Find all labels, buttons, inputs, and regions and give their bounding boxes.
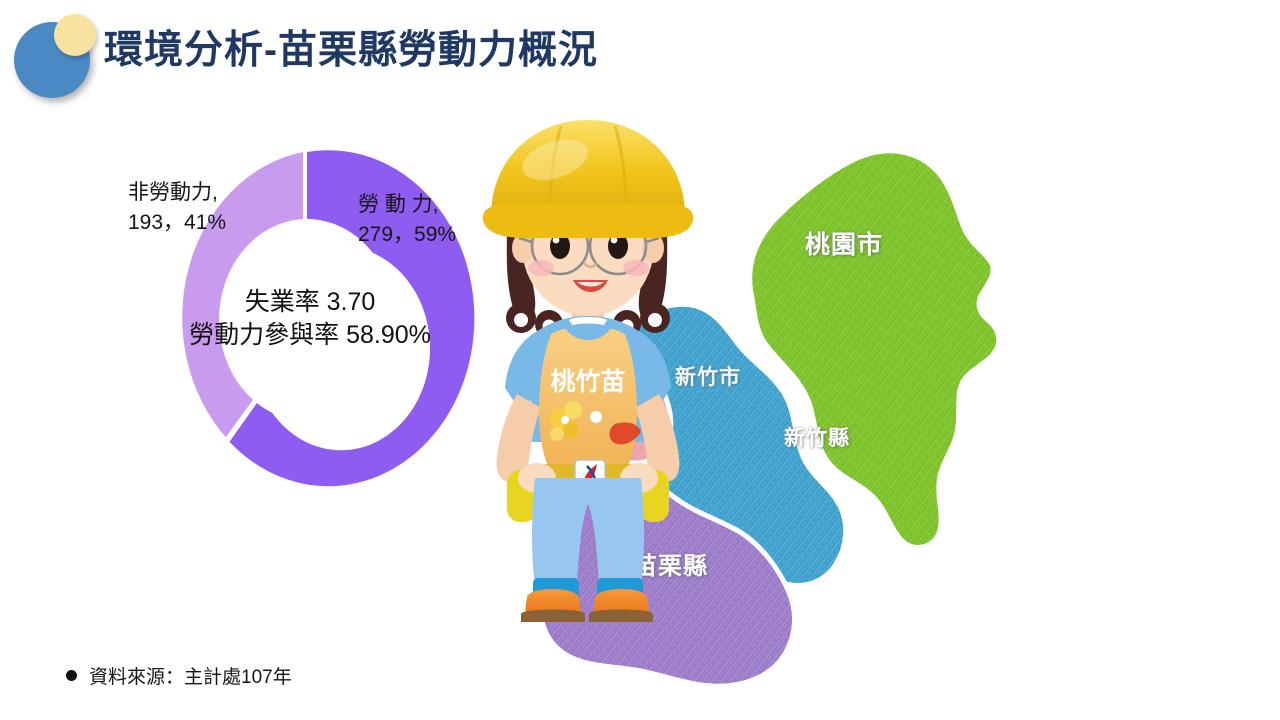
donut-label-nonlabor: 非勞動力, 193，41% — [128, 178, 226, 238]
character-apron — [539, 327, 637, 469]
bullet-icon — [66, 670, 77, 681]
character-cheek-right — [623, 260, 649, 276]
source-text: 資料來源：主計處107年 — [89, 662, 292, 689]
character-helmet-icon — [483, 120, 694, 238]
brand-logo — [6, 8, 106, 102]
donut-center-text: 失業率 3.70 勞動力參與率 58.90% — [150, 286, 470, 351]
logo-yellow-circle-icon — [54, 14, 96, 56]
character-cheek-left — [528, 260, 554, 276]
source-note: 資料來源：主計處107年 — [66, 662, 292, 689]
character-boot-right — [589, 589, 653, 622]
donut-label-labor: 勞 動 力, 279，59% — [358, 190, 456, 250]
character-boot-left — [521, 589, 585, 622]
character-apron-button — [590, 411, 602, 423]
page-title: 環境分析-苗栗縣勞動力概況 — [104, 19, 598, 75]
character-pants — [532, 478, 644, 586]
worker-character-illustration: 桃竹苗 — [455, 112, 720, 622]
character-apron-text: 桃竹苗 — [550, 367, 625, 396]
map-label-taoyuan: 桃園市 — [805, 225, 883, 261]
participation-rate-line: 勞動力參與率 58.90% — [150, 319, 470, 352]
unemployment-rate-line: 失業率 3.70 — [150, 286, 470, 319]
map-label-hsinchu-county: 新竹縣 — [784, 422, 850, 452]
slide-canvas: 環境分析-苗栗縣勞動力概況 非勞動力, 193，41% 勞 動 力, 279，5… — [0, 0, 1280, 720]
